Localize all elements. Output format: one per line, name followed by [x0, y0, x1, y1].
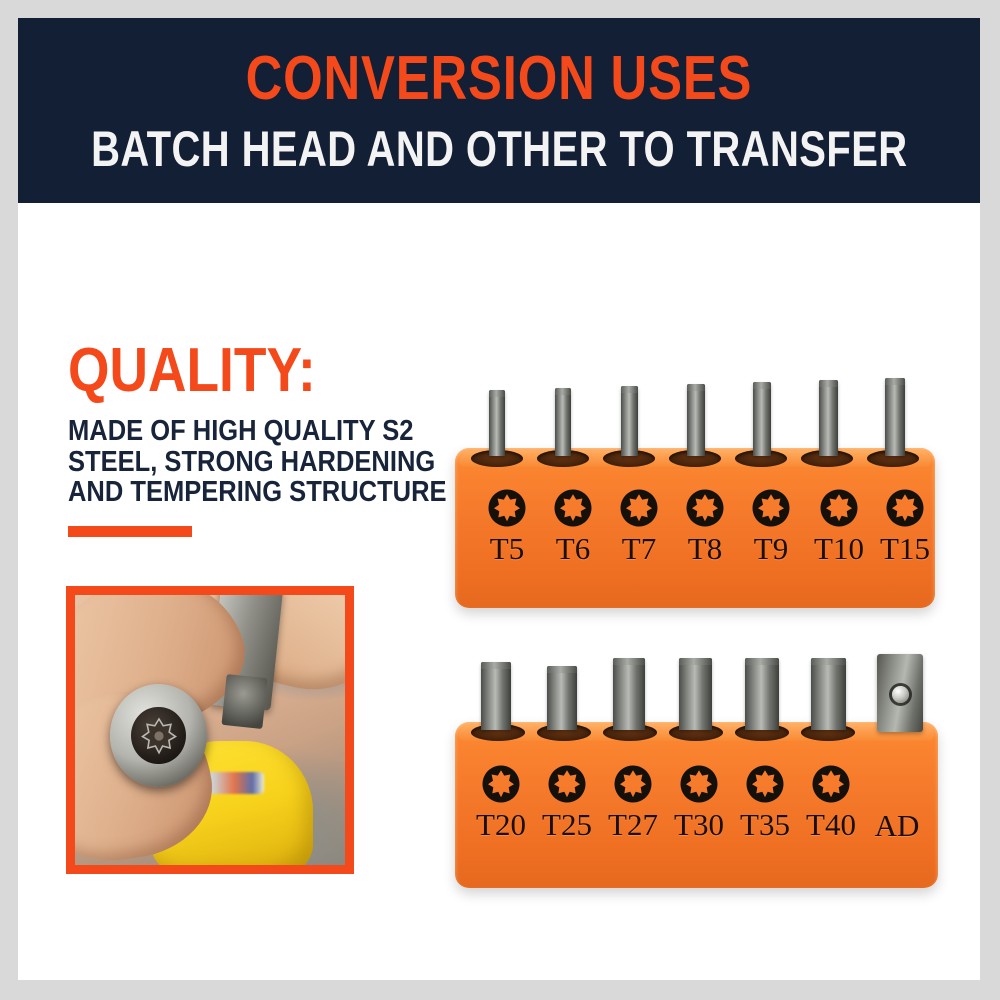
torx-bit — [555, 388, 571, 456]
orange-underline-rule — [68, 526, 192, 537]
torx-star-icon — [613, 764, 653, 804]
bit-label-cell: T7 — [609, 488, 669, 564]
torx-bit — [811, 658, 846, 730]
bit-label-cell: T6 — [543, 488, 603, 564]
infographic-canvas: CONVERSION USES BATCH HEAD AND OTHER TO … — [18, 18, 980, 980]
bit-label-cell: T20 — [465, 764, 537, 840]
quality-heading: QUALITY: — [68, 340, 412, 402]
bit-size-label: T40 — [806, 809, 856, 840]
bit-label-cell: AD — [861, 805, 933, 841]
bit-label-cell: T10 — [803, 488, 875, 564]
photo-background — [75, 595, 345, 865]
bit-label-cell: T40 — [795, 764, 867, 840]
torx-bit — [613, 658, 645, 730]
torx-bit — [547, 666, 577, 730]
torx-bit — [745, 658, 779, 730]
torx-bit — [885, 378, 905, 456]
header-banner: CONVERSION USES BATCH HEAD AND OTHER TO … — [18, 18, 980, 203]
quality-line-1: MADE OF HIGH QUALITY S2 — [68, 416, 438, 447]
product-usage-photo — [66, 586, 354, 874]
torx-star-icon — [481, 764, 521, 804]
quality-description: MADE OF HIGH QUALITY S2 STEEL, STRONG HA… — [68, 416, 438, 508]
bit-size-label: T8 — [688, 533, 722, 564]
torx-star-icon — [619, 488, 659, 528]
bit-label-cell: T27 — [597, 764, 669, 840]
torx-bit — [753, 382, 771, 456]
torx-star-icon — [679, 764, 719, 804]
torx-star-icon — [819, 488, 859, 528]
bit-size-label: T6 — [556, 533, 590, 564]
product-infographic-page: CONVERSION USES BATCH HEAD AND OTHER TO … — [0, 0, 1000, 1000]
bit-label-cell: T25 — [531, 764, 603, 840]
torx-star-icon — [139, 715, 179, 755]
torx-bit-tip — [221, 674, 267, 729]
torx-star-icon — [885, 488, 925, 528]
torx-bit — [687, 384, 705, 456]
quality-line-2: STEEL, STRONG HARDENING — [68, 447, 438, 478]
torx-star-icon — [547, 764, 587, 804]
bottom-bit-holder: T20 T25 T27 T30 — [455, 650, 938, 886]
torx-bit — [481, 662, 511, 730]
quality-line-3: AND TEMPERING STRUCTURE — [68, 477, 438, 508]
bit-size-label: T10 — [814, 533, 864, 564]
banner-title: CONVERSION USES — [246, 48, 753, 110]
banner-subtitle: BATCH HEAD AND OTHER TO TRANSFER — [91, 124, 908, 174]
torx-bit — [819, 380, 838, 456]
torx-star-icon — [487, 488, 527, 528]
bit-size-label: T35 — [740, 809, 790, 840]
torx-star-icon — [751, 488, 791, 528]
torx-star-icon — [745, 764, 785, 804]
bit-size-label: T15 — [880, 533, 930, 564]
torx-bit — [489, 390, 505, 456]
square-drive-adapter-icon — [877, 654, 923, 732]
bit-size-label: T20 — [476, 809, 526, 840]
bit-label-cell: T8 — [675, 488, 735, 564]
screw-recess — [131, 707, 185, 764]
bit-size-label: T5 — [490, 533, 524, 564]
security-torx-screw-head — [110, 684, 207, 787]
bit-size-label: AD — [875, 810, 920, 841]
quality-block: QUALITY: MADE OF HIGH QUALITY S2 STEEL, … — [68, 340, 468, 537]
bit-label-cell: T15 — [869, 488, 941, 564]
bit-size-label: T25 — [542, 809, 592, 840]
torx-star-icon — [685, 488, 725, 528]
torx-star-icon — [553, 488, 593, 528]
bit-size-label: T30 — [674, 809, 724, 840]
top-bit-holder: T5 T6 T7 T8 — [455, 376, 935, 608]
torx-star-icon — [811, 764, 851, 804]
bit-label-cell: T35 — [729, 764, 801, 840]
torx-bit — [621, 386, 638, 456]
bit-label-cell: T9 — [741, 488, 801, 564]
bit-size-label: T27 — [608, 809, 658, 840]
torx-bit — [679, 658, 712, 730]
bit-size-label: T9 — [754, 533, 788, 564]
adapter-ball-detent — [892, 686, 909, 703]
bit-label-cell: T30 — [663, 764, 735, 840]
bit-size-label: T7 — [622, 533, 656, 564]
bit-label-cell: T5 — [477, 488, 537, 564]
